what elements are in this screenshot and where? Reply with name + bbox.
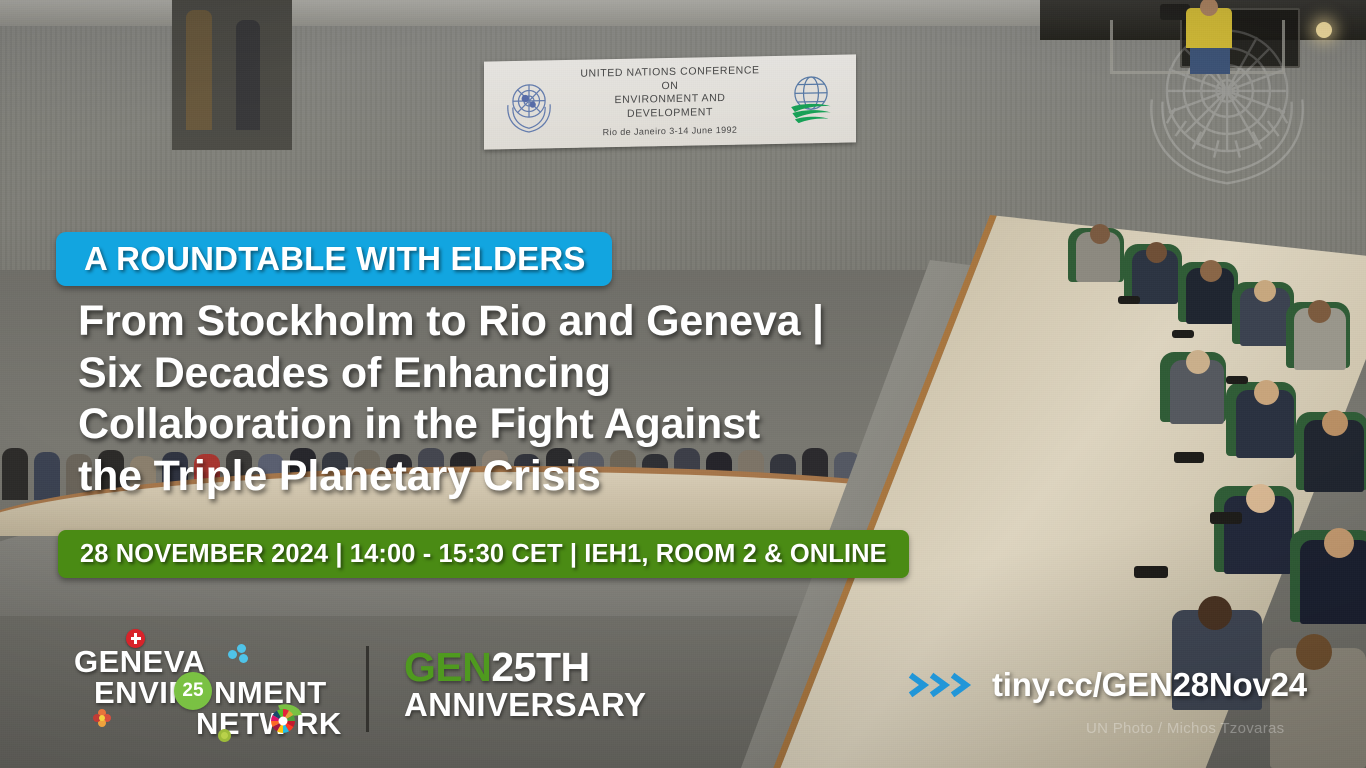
anniversary-circle-badge: 25 bbox=[174, 672, 212, 710]
banner-line-2: ENVIRONMENT AND DEVELOPMENT bbox=[572, 91, 768, 122]
banner-line-1: UNITED NATIONS CONFERENCE ON bbox=[572, 64, 768, 95]
chevron-right-triple-icon bbox=[908, 670, 978, 700]
event-details-bar: 28 NOVEMBER 2024 | 14:00 - 15:30 CET | I… bbox=[58, 530, 909, 578]
title-line-4: the Triple Planetary Crisis bbox=[78, 451, 1088, 503]
seed-dot-icon bbox=[218, 729, 231, 742]
microphone bbox=[1118, 296, 1140, 304]
geneva-environment-network-logo[interactable]: GENEVA ENVIR 25 NMENT NETW RK bbox=[70, 632, 350, 736]
delegate-head bbox=[1090, 224, 1110, 244]
anniversary-word-label: ANNIVERSARY bbox=[404, 686, 646, 724]
delegate-head bbox=[1322, 410, 1348, 436]
cameraman-legs bbox=[1190, 46, 1230, 74]
delegate-head bbox=[1254, 280, 1276, 302]
registration-url-block[interactable]: tiny.cc/GEN28Nov24 bbox=[908, 666, 1307, 704]
un-logo-icon bbox=[498, 73, 560, 136]
delegate-head bbox=[1308, 300, 1331, 323]
standing-person-right bbox=[236, 20, 260, 130]
anniversary-gen-label: GEN bbox=[404, 644, 491, 690]
title-line-2: Six Decades of Enhancing bbox=[78, 348, 1088, 400]
microphone bbox=[1226, 376, 1248, 384]
water-droplets-icon bbox=[228, 644, 250, 664]
page-title: From Stockholm to Rio and Geneva | Six D… bbox=[78, 296, 1088, 502]
title-line-3: Collaboration in the Fight Against bbox=[78, 399, 1088, 451]
microphone bbox=[1134, 566, 1168, 578]
gen-25th-anniversary-lockup: GEN25TH ANNIVERSARY bbox=[404, 644, 654, 734]
delegate-head bbox=[1324, 528, 1354, 558]
standing-person-left bbox=[186, 10, 212, 130]
unced-banner: UNITED NATIONS CONFERENCE ON ENVIRONMENT… bbox=[484, 54, 856, 149]
eyebrow-label: A ROUNDTABLE WITH ELDERS bbox=[84, 240, 586, 278]
flower-icon bbox=[92, 708, 112, 728]
sdg-wheel-icon bbox=[270, 708, 296, 734]
delegate-head bbox=[1246, 484, 1275, 513]
unced-logo-icon bbox=[780, 68, 842, 131]
microphone bbox=[1174, 452, 1204, 463]
delegate bbox=[2, 448, 28, 500]
delegate-head bbox=[1146, 242, 1167, 263]
anniversary-line-1: GEN25TH bbox=[404, 644, 590, 691]
delegate-head bbox=[1200, 260, 1222, 282]
logo-line-network-post: RK bbox=[296, 706, 342, 742]
anniversary-number-label: 25TH bbox=[491, 644, 589, 690]
event-poster: UNITED NATIONS CONFERENCE ON ENVIRONMENT… bbox=[0, 0, 1366, 768]
banner-line-3: Rio de Janeiro 3-14 June 1992 bbox=[572, 124, 768, 139]
microphone bbox=[1172, 330, 1194, 338]
photo-credit: UN Photo / Michos Tzovaras bbox=[1086, 720, 1284, 737]
logo-divider bbox=[366, 646, 369, 732]
delegate-head bbox=[1198, 596, 1232, 630]
delegate-head bbox=[1186, 350, 1210, 374]
registration-url-label[interactable]: tiny.cc/GEN28Nov24 bbox=[992, 666, 1307, 704]
event-details-label: 28 NOVEMBER 2024 | 14:00 - 15:30 CET | I… bbox=[80, 540, 887, 569]
microphone bbox=[1210, 512, 1242, 524]
delegate-head bbox=[1296, 634, 1332, 670]
eyebrow-badge: A ROUNDTABLE WITH ELDERS bbox=[56, 232, 612, 286]
delegate-head bbox=[1254, 380, 1279, 405]
title-line-1: From Stockholm to Rio and Geneva | bbox=[78, 296, 1088, 348]
delegate bbox=[34, 452, 60, 500]
